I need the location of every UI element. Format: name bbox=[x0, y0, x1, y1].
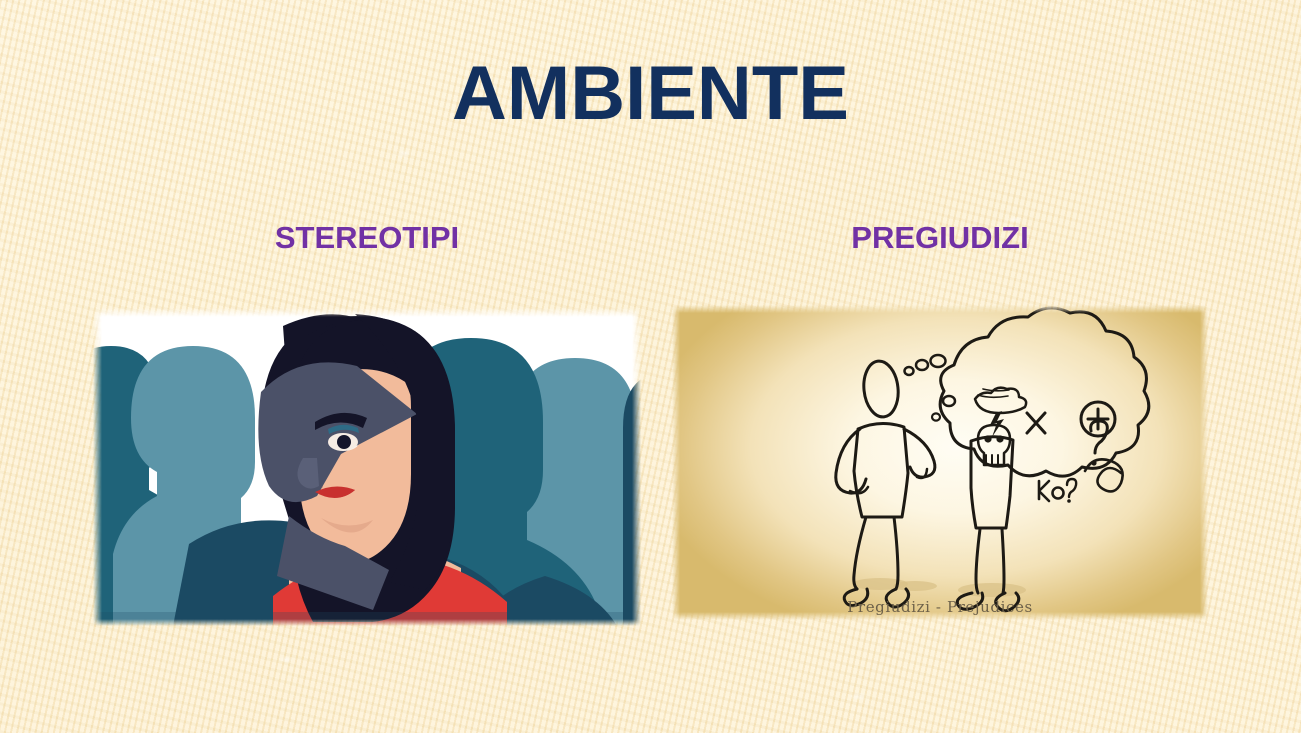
thought-cloud bbox=[932, 308, 1149, 503]
prejudices-sketch bbox=[672, 305, 1208, 620]
page-title: AMBIENTE bbox=[0, 56, 1301, 132]
ko-question-icon bbox=[1039, 479, 1076, 503]
stick-figure-left bbox=[836, 355, 946, 607]
prejudices-artwork bbox=[672, 305, 1208, 620]
stereotypes-illustration bbox=[93, 308, 641, 626]
column-heading-stereotipi: STEREOTIPI bbox=[93, 222, 641, 253]
plus-in-circle-icon bbox=[1081, 402, 1115, 436]
skull-icon bbox=[978, 425, 1010, 465]
slide-canvas: AMBIENTE STEREOTIPI PREGIUDIZI bbox=[0, 0, 1301, 733]
column-heading-pregiudizi: PREGIUDIZI bbox=[672, 222, 1208, 253]
x-mark-icon bbox=[1027, 413, 1045, 433]
prejudices-caption: Pregiudizi - Prejudices bbox=[672, 598, 1208, 616]
stereotypes-artwork bbox=[93, 308, 641, 626]
